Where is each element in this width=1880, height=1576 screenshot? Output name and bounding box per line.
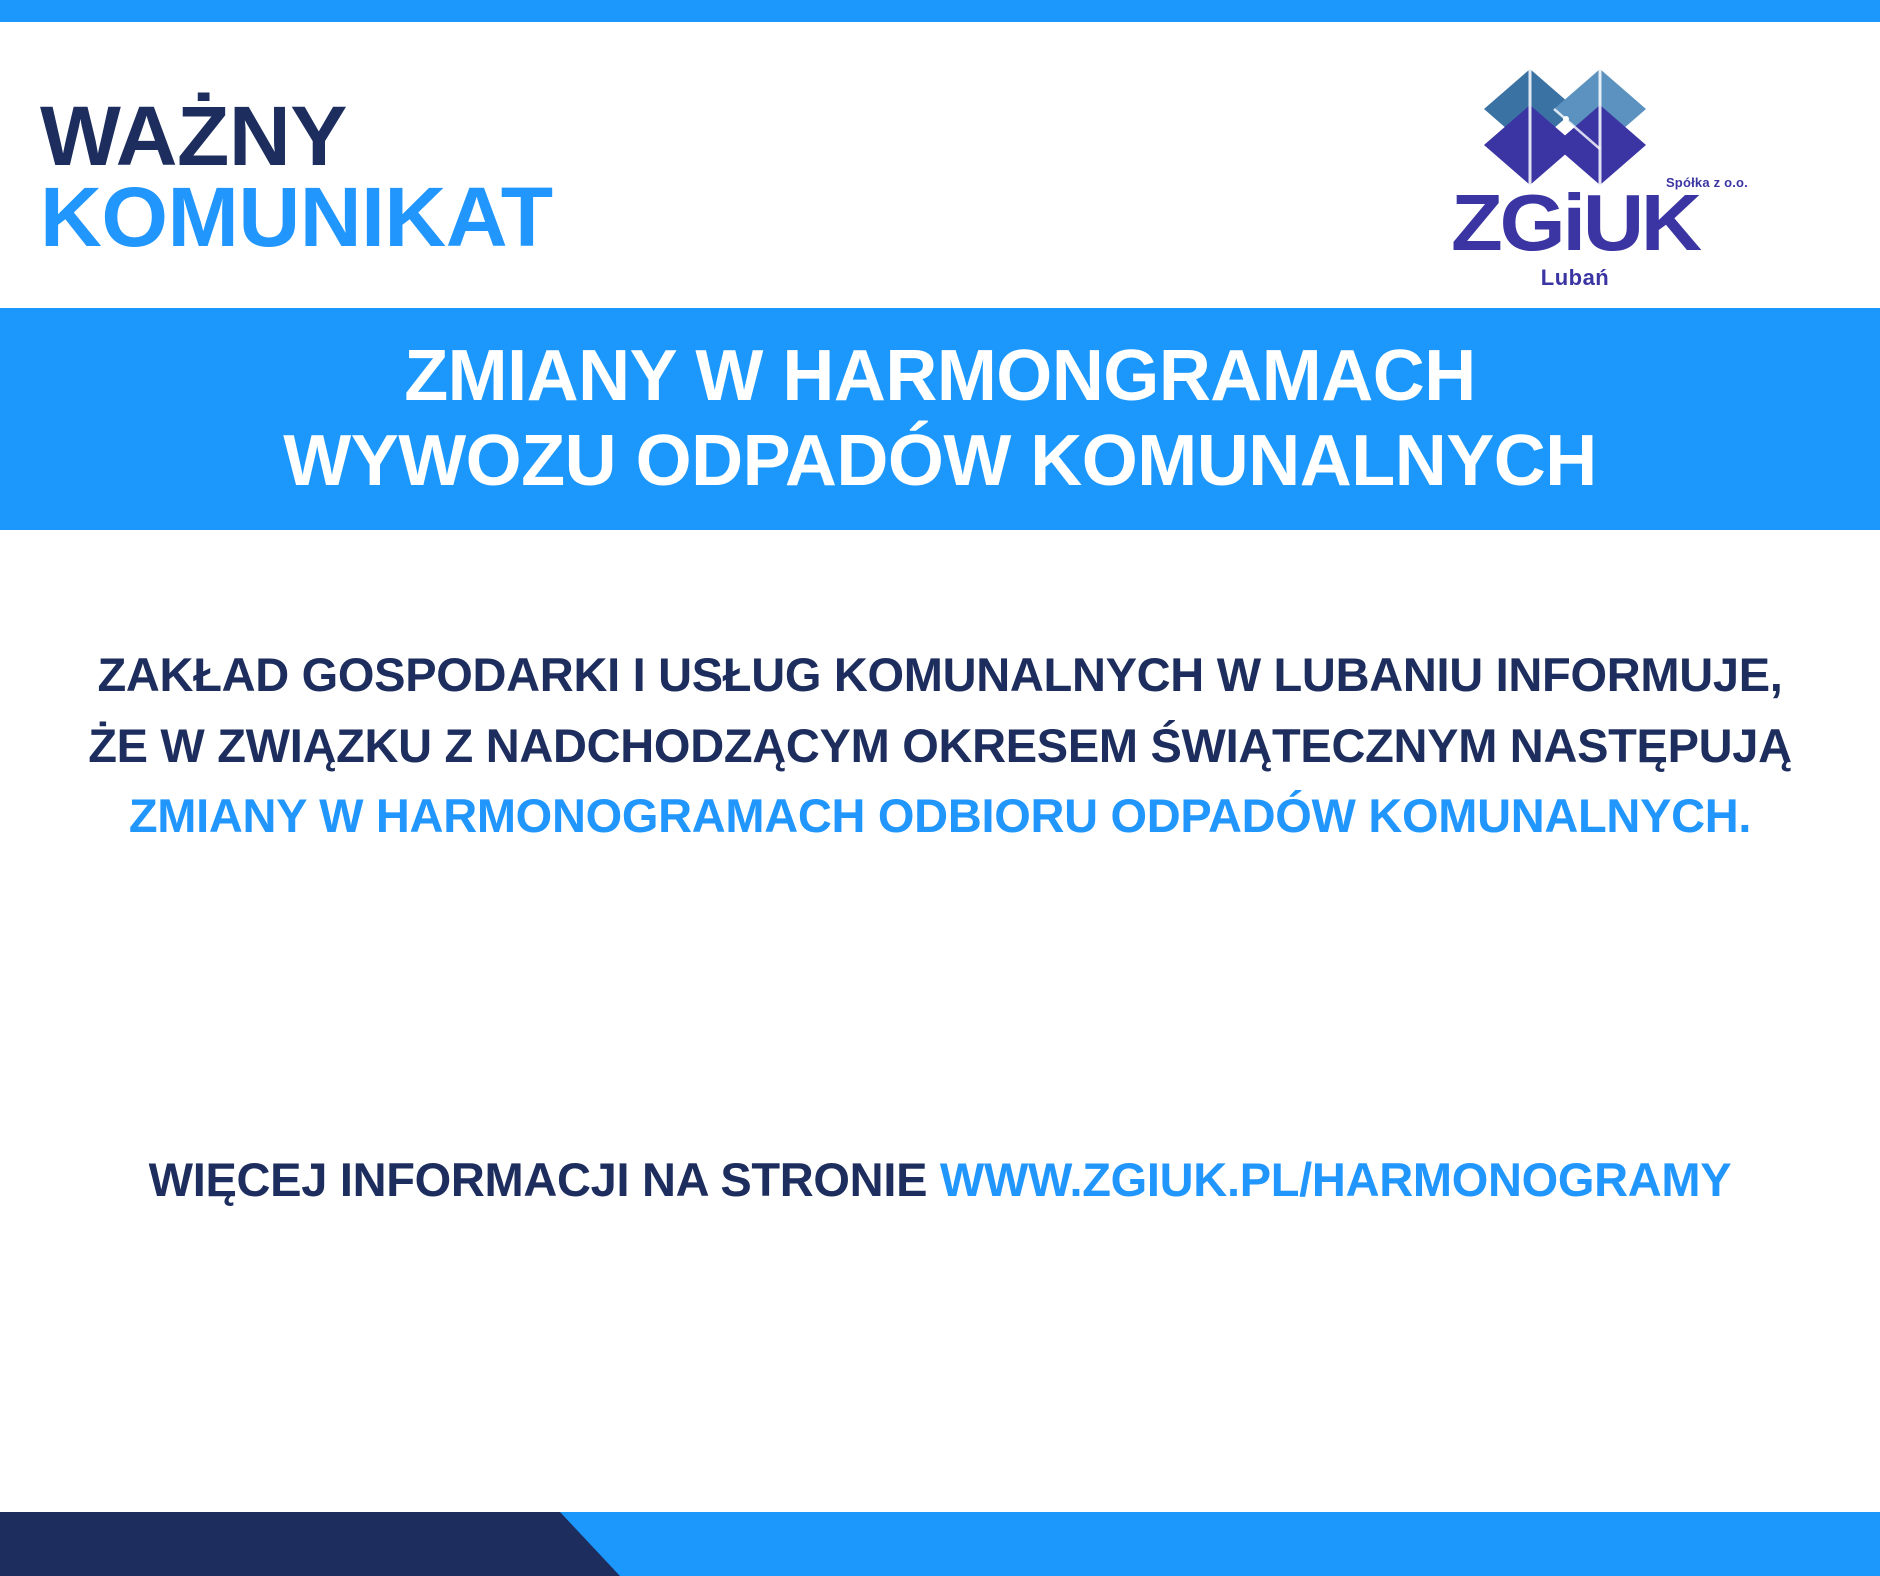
main-banner: ZMIANY W HARMONGRAMACH WYWOZU ODPADÓW KO… bbox=[0, 308, 1880, 530]
announcement-poster: WAŻNY KOMUNIKAT bbox=[0, 0, 1880, 1576]
logo-legal-form: Spółka z o.o. bbox=[1666, 175, 1748, 190]
top-accent-bar bbox=[0, 0, 1880, 22]
headline-line-2: KOMUNIKAT bbox=[40, 177, 553, 258]
body-line-2: ŻE W ZWIĄZKU Z NADCHODZĄCYM OKRESEM ŚWIĄ… bbox=[0, 711, 1880, 782]
headline-line-1: WAŻNY bbox=[40, 96, 553, 177]
body-line-3: ZMIANY W HARMONOGRAMACH ODBIORU ODPADÓW … bbox=[0, 781, 1880, 852]
more-info-line: WIĘCEJ INFORMACJI NA STRONIE WWW.ZGIUK.P… bbox=[0, 1152, 1880, 1207]
logo-wordmark: ZGiUK bbox=[1400, 189, 1750, 258]
four-diamonds-icon bbox=[1482, 67, 1672, 187]
bottom-navy-wedge bbox=[0, 1512, 620, 1576]
logo-wordmark-wrap: ZGiUK bbox=[1410, 189, 1740, 258]
announcement-body: ZAKŁAD GOSPODARKI I USŁUG KOMUNALNYCH W … bbox=[0, 640, 1880, 852]
company-logo: ZGiUK Spółka z o.o. Lubań bbox=[1410, 67, 1740, 297]
banner-line-1: ZMIANY W HARMONGRAMACH bbox=[404, 334, 1476, 419]
banner-line-2: WYWOZU ODPADÓW KOMUNALNYCH bbox=[283, 419, 1597, 504]
page-title: WAŻNY KOMUNIKAT bbox=[40, 96, 543, 257]
bottom-decoration bbox=[0, 1512, 1880, 1576]
more-info-prefix: WIĘCEJ INFORMACJI NA STRONIE bbox=[149, 1153, 940, 1206]
more-info-footer: WIĘCEJ INFORMACJI NA STRONIE WWW.ZGIUK.P… bbox=[0, 1152, 1880, 1207]
website-url[interactable]: WWW.ZGIUK.PL/HARMONOGRAMY bbox=[940, 1153, 1731, 1206]
body-line-1: ZAKŁAD GOSPODARKI I USŁUG KOMUNALNYCH W … bbox=[0, 640, 1880, 711]
logo-city: Lubań bbox=[1410, 265, 1740, 291]
